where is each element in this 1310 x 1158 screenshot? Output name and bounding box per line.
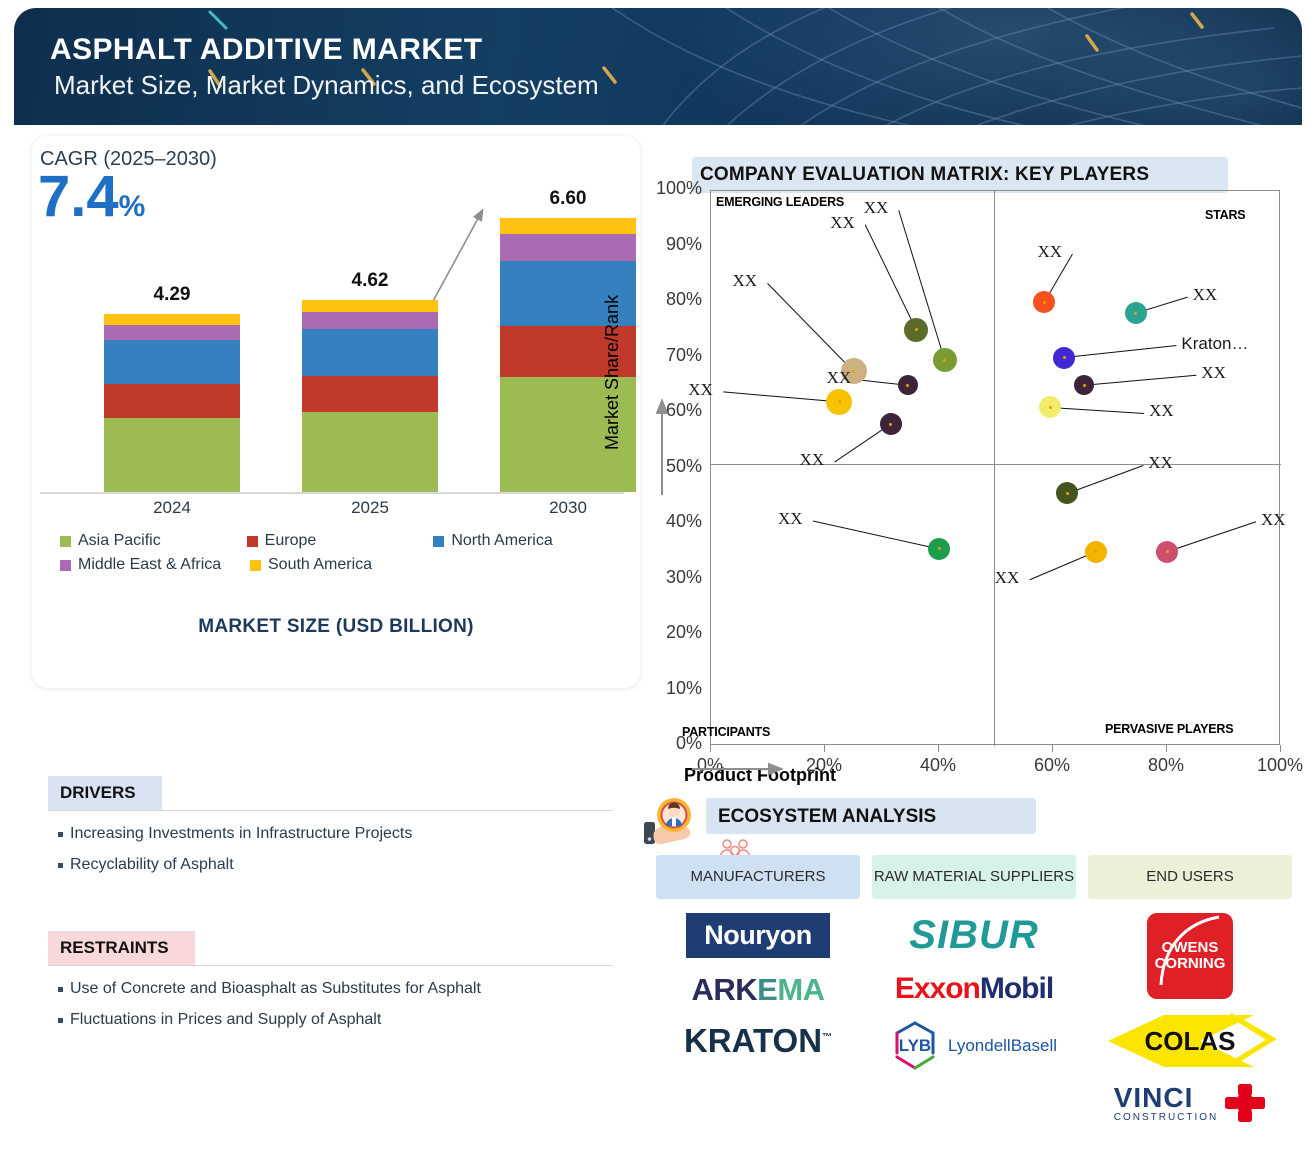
bar-segment <box>302 329 438 375</box>
matrix-point-label: XX <box>800 450 825 470</box>
owens-corning-line2: CORNING <box>1155 956 1226 972</box>
legend-row: Asia PacificEuropeNorth America <box>60 532 620 550</box>
matrix-point-label: XX <box>1148 453 1173 473</box>
page-title: ASPHALT ADDITIVE MARKET <box>50 33 483 67</box>
matrix-y-tick-label: 60% <box>642 400 702 421</box>
quadrant-label-stars: STARS <box>1205 208 1245 222</box>
matrix-point-label: XX <box>778 509 803 529</box>
drivers-divider <box>48 810 613 811</box>
matrix-y-tick-label: 30% <box>642 567 702 588</box>
ecosystem-columns: MANUFACTURERS Nouryon ARKEMA KRATON™ RAW… <box>656 855 1300 1123</box>
colas-logo-text: COLAS <box>1145 1026 1236 1057</box>
exxonmobil-logo: ExxonMobil <box>895 972 1053 1006</box>
matrix-y-tick-label: 100% <box>642 178 702 199</box>
arkema-logo-part1: ARK <box>691 972 757 1007</box>
bar-segment <box>302 300 438 311</box>
stacked-bar-chart: 4.294.626.60 <box>32 136 640 516</box>
matrix-title: COMPANY EVALUATION MATRIX: KEY PLAYERS <box>700 164 1149 186</box>
page-subtitle: Market Size, Market Dynamics, and Ecosys… <box>54 70 599 101</box>
matrix-bubble[interactable] <box>1156 541 1178 563</box>
bar-segment <box>104 418 240 492</box>
matrix-y-axis-title: Market Share/Rank <box>602 295 623 450</box>
drivers-block: DRIVERS Increasing Investments in Infras… <box>48 776 613 887</box>
matrix-point-label: XX <box>995 568 1020 588</box>
legend-swatch <box>60 536 71 547</box>
matrix-bubble[interactable] <box>1085 541 1107 563</box>
legend-label: Asia Pacific <box>78 532 161 550</box>
matrix-bubble[interactable] <box>880 413 902 435</box>
matrix-x-tick-mark <box>1166 745 1167 752</box>
ecosystem-col-head-end-users: END USERS <box>1088 855 1292 899</box>
matrix-leader-line <box>1050 407 1144 413</box>
matrix-bubble[interactable] <box>826 389 852 415</box>
quadrant-divider-horizontal <box>711 464 1281 465</box>
matrix-leader-lines <box>711 191 1281 746</box>
quadrant-label-emerging-leaders: EMERGING LEADERS <box>716 195 844 209</box>
legend-item: Europe <box>247 532 434 550</box>
matrix-point-label: XX <box>733 271 758 291</box>
ecosystem-title: ECOSYSTEM ANALYSIS <box>718 806 936 828</box>
matrix-point-label: XX <box>1037 242 1062 262</box>
matrix-point-label: XX <box>827 368 852 388</box>
matrix-point-label: XX <box>830 213 855 233</box>
lyb-mark-text: LYB <box>899 1036 931 1056</box>
bar-column <box>302 300 438 492</box>
matrix-x-tick-mark <box>710 745 711 752</box>
quadrant-label-participants: PARTICIPANTS <box>682 725 770 739</box>
company-evaluation-matrix: COMPANY EVALUATION MATRIX: KEY PLAYERS 0… <box>640 150 1300 790</box>
market-size-card: CAGR (2025–2030) 7.4% 4.294.626.60 Asia … <box>32 136 640 688</box>
quadrant-divider-vertical <box>994 191 995 746</box>
matrix-point-label: XX <box>1193 285 1218 305</box>
matrix-x-tick-label: 80% <box>1136 755 1196 776</box>
restraints-divider <box>48 965 613 966</box>
matrix-bubble[interactable] <box>898 375 918 395</box>
bar-category-label: 2024 <box>104 498 240 518</box>
matrix-bubble[interactable] <box>1056 482 1078 504</box>
legend-label: Europe <box>265 532 317 550</box>
driver-item: Recyclability of Asphalt <box>70 856 613 874</box>
legend-item: North America <box>433 532 620 550</box>
arkema-logo-part2: E <box>757 972 777 1007</box>
matrix-leader-line <box>1167 522 1256 552</box>
page-header-banner: ASPHALT ADDITIVE MARKET Market Size, Mar… <box>14 8 1302 125</box>
matrix-point-label: XX <box>864 198 889 218</box>
arkema-logo-part3: MA <box>777 972 824 1007</box>
quadrant-label-pervasive-players: PERVASIVE PLAYERS <box>1105 722 1233 736</box>
kraton-logo: KRATON™ <box>684 1022 832 1060</box>
matrix-y-tick-label: 20% <box>642 622 702 643</box>
vinci-wordmark: VINCI CONSTRUCTION <box>1114 1084 1219 1123</box>
exxon-logo-part2: Mobil <box>980 972 1053 1005</box>
matrix-y-tick-label: 50% <box>642 456 702 477</box>
matrix-leader-line <box>865 225 916 330</box>
driver-item: Increasing Investments in Infrastructure… <box>70 825 613 843</box>
owens-corning-logo: OWENS CORNING <box>1147 913 1233 999</box>
matrix-y-tick-label: 70% <box>642 345 702 366</box>
bar-segment <box>302 412 438 492</box>
matrix-point-label: XX <box>1201 363 1226 383</box>
arkema-logo: ARKEMA <box>691 972 824 1008</box>
matrix-bubble[interactable] <box>928 538 950 560</box>
lyb-hex-mark: LYB <box>891 1020 939 1072</box>
matrix-leader-line <box>768 283 854 371</box>
legend-item: Asia Pacific <box>60 532 247 550</box>
ecosystem-col-head-raw-materials: RAW MATERIAL SUPPLIERS <box>872 855 1076 899</box>
matrix-leader-line <box>1084 375 1196 385</box>
matrix-bubble[interactable] <box>904 318 928 342</box>
lyb-name-text: LyondellBasell <box>948 1036 1057 1056</box>
matrix-bubble[interactable] <box>1033 291 1055 313</box>
restraints-list: Use of Concrete and Bioasphalt as Substi… <box>48 980 613 1029</box>
nouryon-logo: Nouryon <box>686 913 830 958</box>
bar-segment <box>104 325 240 340</box>
matrix-x-tick-mark <box>1052 745 1053 752</box>
legend-swatch <box>250 560 261 571</box>
chart-legend: Asia PacificEuropeNorth AmericaMiddle Ea… <box>60 532 620 580</box>
kraton-logo-text: KRATON <box>684 1022 822 1059</box>
legend-label: North America <box>451 532 552 550</box>
legend-label: Middle East & Africa <box>78 556 221 574</box>
bar-segment <box>500 234 636 261</box>
bar-total-label: 4.29 <box>104 284 240 306</box>
matrix-point-label: XX <box>1261 510 1286 530</box>
matrix-x-tick-mark <box>938 745 939 752</box>
matrix-leader-line <box>1064 346 1176 358</box>
bar-segment <box>104 340 240 384</box>
vinci-name-text: VINCI <box>1114 1084 1219 1112</box>
matrix-y-tick-label: 40% <box>642 511 702 532</box>
ecosystem-column-end-users: END USERS OWENS CORNING COLAS <box>1088 855 1292 1123</box>
restraints-block: RESTRAINTS Use of Concrete and Bioasphal… <box>48 931 613 1042</box>
ecosystem-column-manufacturers: MANUFACTURERS Nouryon ARKEMA KRATON™ <box>656 855 860 1123</box>
raw-material-supplier-logos: SIBUR ExxonMobil LYB Ly <box>872 913 1076 1072</box>
matrix-plot-area <box>710 190 1280 745</box>
kraton-trademark: ™ <box>822 1032 832 1043</box>
matrix-y-tick-label: 90% <box>642 234 702 255</box>
drivers-list: Increasing Investments in Infrastructure… <box>48 825 613 874</box>
matrix-bubble[interactable] <box>933 348 957 372</box>
matrix-x-axis-title: Product Footprint <box>684 765 836 786</box>
bar-category-label: 2030 <box>500 498 636 518</box>
vinci-symbol-icon <box>1224 1083 1266 1123</box>
bar-segment <box>500 218 636 234</box>
matrix-y-tick-label: 80% <box>642 289 702 310</box>
legend-label: South America <box>268 556 372 574</box>
exxon-logo-part1: Exxon <box>895 972 980 1005</box>
matrix-x-tick-mark <box>1280 745 1281 752</box>
matrix-point-label: XX <box>688 380 713 400</box>
sibur-logo: SIBUR <box>909 913 1038 958</box>
matrix-x-tick-label: 100% <box>1250 755 1310 776</box>
colas-logo: COLAS <box>1104 1013 1276 1069</box>
chart-baseline <box>40 492 624 494</box>
matrix-x-tick-label: 60% <box>1022 755 1082 776</box>
matrix-leader-line <box>813 521 939 549</box>
restraints-tag: RESTRAINTS <box>48 931 195 965</box>
matrix-leader-line <box>723 392 839 402</box>
vinci-construction-logo: VINCI CONSTRUCTION <box>1114 1083 1267 1123</box>
vinci-sub-text: CONSTRUCTION <box>1114 1112 1219 1123</box>
matrix-bubble[interactable] <box>1074 375 1094 395</box>
lyondellbasell-logo: LYB LyondellBasell <box>891 1020 1057 1072</box>
manufacturer-logos: Nouryon ARKEMA KRATON™ <box>656 913 860 1060</box>
matrix-point-label: XX <box>1149 401 1174 421</box>
matrix-leader-line <box>1067 465 1143 493</box>
legend-item: South America <box>250 556 440 574</box>
legend-item: Middle East & Africa <box>60 556 250 574</box>
restraint-item: Use of Concrete and Bioasphalt as Substi… <box>70 980 613 998</box>
matrix-bubble[interactable] <box>1039 396 1061 418</box>
bar-category-label: 2025 <box>302 498 438 518</box>
end-user-logos: OWENS CORNING COLAS VINCI CONSTRUCTION <box>1088 913 1292 1123</box>
matrix-bubble[interactable] <box>1053 347 1075 369</box>
legend-swatch <box>433 536 444 547</box>
ecosystem-column-raw-material-suppliers: RAW MATERIAL SUPPLIERS SIBUR ExxonMobil <box>872 855 1076 1123</box>
bar-column <box>104 314 240 492</box>
matrix-y-tick-label: 10% <box>642 678 702 699</box>
owens-corning-line1: OWENS <box>1162 940 1219 956</box>
chart-axis-title: MARKET SIZE (USD BILLION) <box>32 616 640 638</box>
matrix-x-tick-mark <box>824 745 825 752</box>
bar-total-label: 4.62 <box>302 270 438 292</box>
bar-segment <box>302 312 438 330</box>
ecosystem-analysis-section: ECOSYSTEM ANALYSIS MANUFACTURERS Nouryon… <box>640 790 1300 1158</box>
ecosystem-col-head-manufacturers: MANUFACTURERS <box>656 855 860 899</box>
bar-segment <box>104 314 240 325</box>
restraint-item: Fluctuations in Prices and Supply of Asp… <box>70 1011 613 1029</box>
legend-swatch <box>247 536 258 547</box>
legend-row: Middle East & AfricaSouth America <box>60 556 620 574</box>
person-in-hand-icon <box>644 796 698 852</box>
bar-segment <box>104 384 240 418</box>
matrix-bubble[interactable] <box>1125 302 1147 324</box>
legend-swatch <box>60 560 71 571</box>
bar-total-label: 6.60 <box>500 188 636 210</box>
matrix-point-label-kraton: Kraton… <box>1181 334 1248 354</box>
matrix-x-tick-label: 40% <box>908 755 968 776</box>
drivers-tag: DRIVERS <box>48 776 162 810</box>
bar-segment <box>302 376 438 413</box>
